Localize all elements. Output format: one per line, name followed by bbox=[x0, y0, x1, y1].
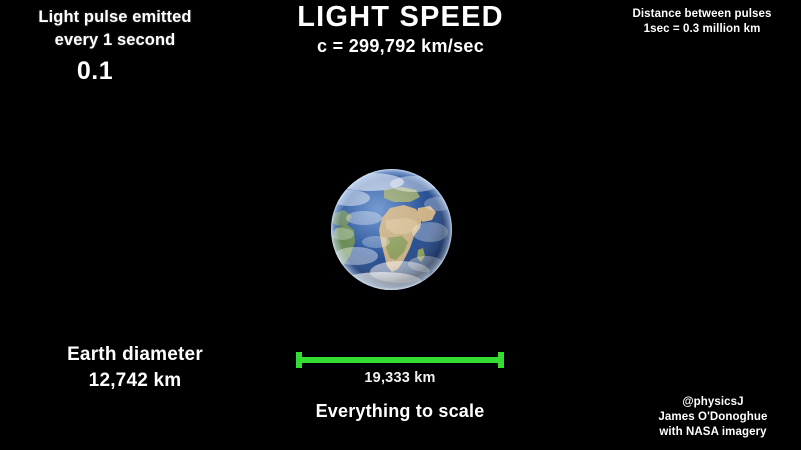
elapsed-time-counter: 0.1 bbox=[0, 57, 190, 86]
credits-block: @physicsJ James O'Donoghue with NASA ima… bbox=[633, 395, 793, 440]
scale-bar-cap-right bbox=[498, 352, 504, 368]
earth-diameter-line1: Earth diameter bbox=[20, 342, 250, 368]
earth-icon bbox=[330, 168, 453, 291]
distance-between-pulses-note: Distance between pulses 1sec = 0.3 milli… bbox=[607, 7, 797, 37]
earth-diameter-label: Earth diameter 12,742 km bbox=[20, 342, 250, 394]
credits-source: with NASA imagery bbox=[633, 425, 793, 440]
scale-bar-label: 19,333 km bbox=[296, 370, 504, 386]
distance-note-line2: 1sec = 0.3 million km bbox=[607, 22, 797, 37]
credits-author: James O'Donoghue bbox=[633, 410, 793, 425]
earth-diameter-line2: 12,742 km bbox=[20, 368, 250, 394]
scale-bar-cap-left bbox=[296, 352, 302, 368]
scale-bar bbox=[296, 352, 504, 368]
light-speed-visualization: Light pulse emitted every 1 second 0.1 L… bbox=[0, 0, 801, 450]
credits-handle: @physicsJ bbox=[633, 395, 793, 410]
tagline: Everything to scale bbox=[280, 401, 520, 422]
distance-note-line1: Distance between pulses bbox=[607, 7, 797, 22]
scale-bar-line bbox=[296, 357, 504, 363]
light-speed-constant: c = 299,792 km/sec bbox=[0, 34, 801, 58]
earth-globe bbox=[330, 168, 453, 291]
